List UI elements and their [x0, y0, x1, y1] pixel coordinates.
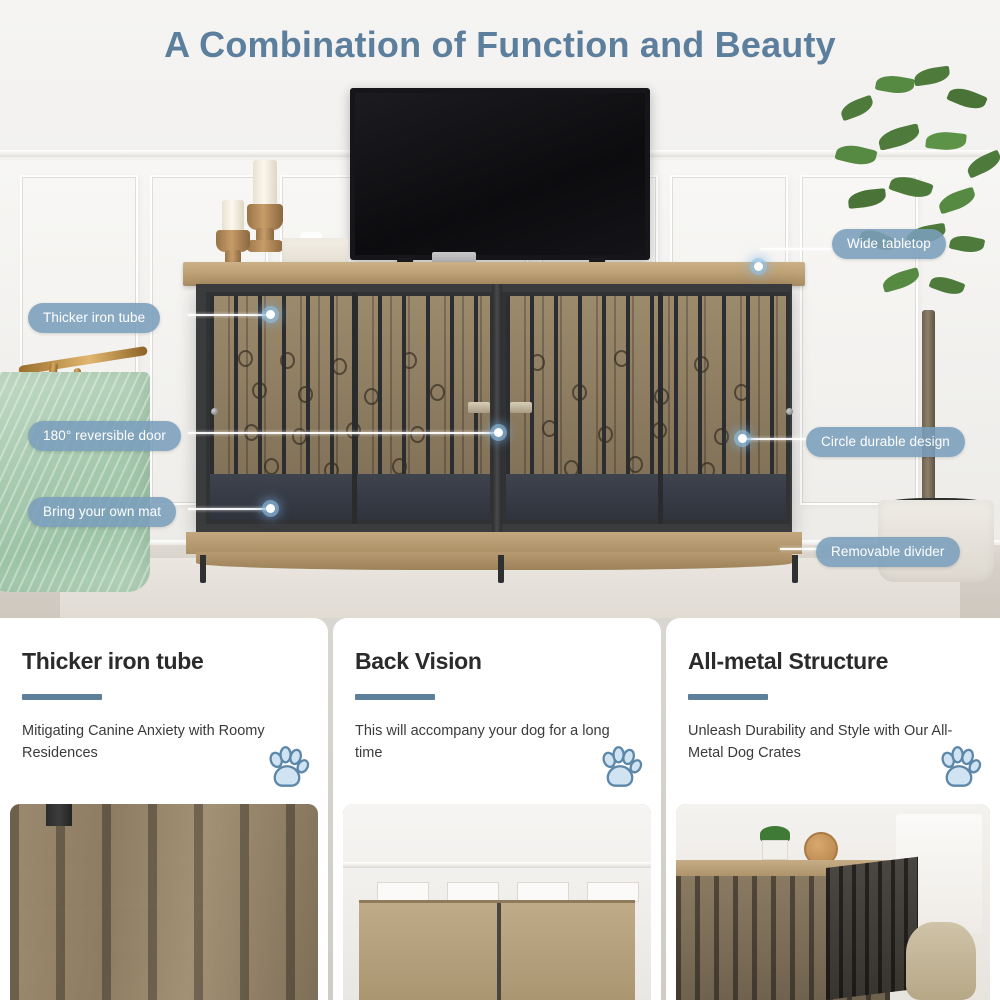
- crate-skirt: [196, 552, 792, 570]
- crate-foot: [498, 555, 504, 583]
- infographic-page: Thicker iron tube 180° reversible door B…: [0, 0, 1000, 1000]
- candle-holder-base: [246, 240, 284, 252]
- back-tab: [517, 882, 569, 902]
- feature-card-back-vision: Back Vision This will accompany your dog…: [333, 618, 661, 1000]
- crate-foot: [792, 555, 798, 583]
- leader-line-own-mat: [188, 508, 270, 510]
- feature-card-thicker-iron-tube: Thicker iron tube Mitigating Canine Anxi…: [0, 618, 328, 1000]
- crate-base: [186, 532, 802, 554]
- succulent-plant: [754, 826, 796, 860]
- hotspot-wide-tabletop[interactable]: [754, 262, 763, 271]
- callout-bring-your-own-mat[interactable]: Bring your own mat: [28, 497, 176, 527]
- frame-screw: [211, 408, 218, 415]
- hero-scene: Thicker iron tube 180° reversible door B…: [0, 0, 1000, 618]
- angled-crate-scene: [676, 804, 990, 1000]
- card-description: Mitigating Canine Anxiety with Roomy Res…: [22, 720, 292, 765]
- candle-holder: [216, 230, 250, 252]
- crate-foot: [200, 555, 206, 583]
- pillar-candle: [253, 160, 277, 206]
- callout-reversible-door[interactable]: 180° reversible door: [28, 421, 181, 451]
- card-accent-rule: [355, 694, 435, 700]
- card-image-back-view: [343, 804, 651, 1000]
- throw-texture: [0, 372, 150, 592]
- back-view-scene: [343, 804, 651, 1000]
- frame-screw: [786, 408, 793, 415]
- card-title: Thicker iron tube: [22, 648, 306, 675]
- callout-circle-durable-design[interactable]: Circle durable design: [806, 427, 965, 457]
- television: [350, 88, 650, 260]
- callout-wide-tabletop[interactable]: Wide tabletop: [832, 229, 946, 259]
- back-panel-seam: [497, 903, 501, 1000]
- card-title: All-metal Structure: [688, 648, 978, 675]
- hotspot-own-mat[interactable]: [266, 504, 275, 513]
- callout-removable-divider[interactable]: Removable divider: [816, 537, 960, 567]
- candle-holder: [247, 204, 283, 230]
- woven-lantern: [906, 922, 976, 1000]
- tree-trunk: [922, 310, 935, 510]
- removable-divider-panel: [492, 284, 502, 570]
- callout-thicker-iron-tube[interactable]: Thicker iron tube: [28, 303, 160, 333]
- back-tab: [377, 882, 429, 902]
- card-description: This will accompany your dog for a long …: [355, 720, 625, 765]
- crate-door-seam: [658, 292, 663, 524]
- throw-blanket: [0, 372, 150, 592]
- crate-bay-left: [206, 292, 494, 524]
- back-tab: [447, 882, 499, 902]
- pet-mat: [506, 474, 786, 520]
- pet-mat: [210, 474, 490, 520]
- back-tab: [587, 882, 639, 902]
- feature-card-all-metal-structure: All-metal Structure Unleash Durability a…: [666, 618, 1000, 1000]
- leader-line-thicker-iron-tube: [188, 314, 270, 316]
- card-title: Back Vision: [355, 648, 639, 675]
- card-header: Thicker iron tube Mitigating Canine Anxi…: [0, 618, 328, 796]
- paw-icon: [936, 744, 982, 790]
- feature-panels: Thicker iron tube Mitigating Canine Anxi…: [0, 618, 1000, 1000]
- door-latch: [468, 402, 490, 413]
- pillar-candle: [222, 200, 244, 232]
- tree-canopy: [830, 60, 1000, 350]
- crate-bay-right: [502, 292, 790, 524]
- card-image-slat-closeup: [10, 804, 318, 1000]
- hotspot-thicker-iron-tube[interactable]: [266, 310, 275, 319]
- leader-line-reversible-door: [188, 432, 498, 434]
- leader-line-circle-design: [744, 438, 810, 440]
- potted-tree: [830, 60, 1000, 580]
- cabinet-back-panel: [359, 900, 635, 1000]
- leader-line-removable-divider: [780, 548, 820, 550]
- leader-line-wide-tabletop: [760, 248, 832, 250]
- card-accent-rule: [688, 694, 768, 700]
- door-latch: [510, 402, 532, 413]
- crate-tabletop: [183, 262, 805, 286]
- crate-side-panel: [826, 857, 918, 1000]
- paw-icon: [597, 744, 643, 790]
- card-header: Back Vision This will accompany your dog…: [333, 618, 661, 796]
- card-header: All-metal Structure Unleash Durability a…: [666, 618, 1000, 796]
- tv-screen: [355, 93, 645, 255]
- paw-icon: [264, 744, 310, 790]
- crate-door-seam: [352, 292, 357, 524]
- wall-rail: [343, 862, 651, 868]
- card-accent-rule: [22, 694, 102, 700]
- page-title: A Combination of Function and Beauty: [0, 24, 1000, 66]
- card-description: Unleash Durability and Style with Our Al…: [688, 720, 958, 765]
- hotspot-circle-design[interactable]: [738, 434, 747, 443]
- card-image-angled-crate: [676, 804, 990, 1000]
- hotspot-reversible-door[interactable]: [494, 428, 503, 437]
